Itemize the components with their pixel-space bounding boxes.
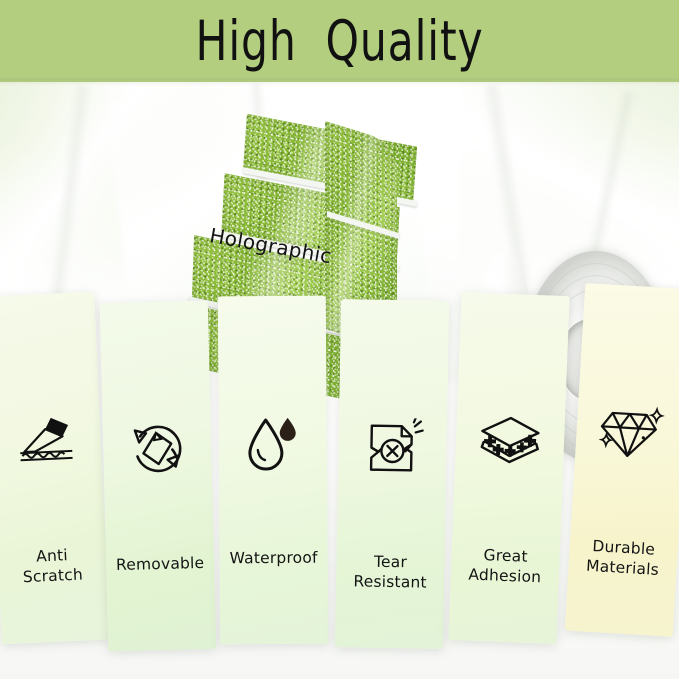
feature-label-line1: Tear <box>336 551 444 573</box>
water-drop-icon <box>244 414 302 474</box>
feature-label-line2: Adhesion <box>450 564 559 589</box>
layers-adhesion-icon <box>475 411 545 470</box>
feature-card-label: Durable Materials <box>568 535 678 582</box>
recycle-label-icon <box>126 419 189 478</box>
icon-container <box>455 410 565 470</box>
feature-card-tear-resistant[interactable]: Tear Resistant <box>335 299 449 649</box>
banner-drop-shadow <box>0 78 679 86</box>
feature-label-line2: Scratch <box>0 564 107 589</box>
product-feature-banner: High Quality <box>0 0 679 679</box>
feature-card-label: Waterproof <box>220 548 328 569</box>
icon-container <box>103 419 212 480</box>
feature-label-line1: Removable <box>106 553 214 576</box>
feature-cards-row: Anti Scratch Removable <box>0 282 679 647</box>
feature-card-label: Tear Resistant <box>336 551 445 594</box>
torn-paper-icon <box>361 417 424 478</box>
feature-card-anti-scratch[interactable]: Anti Scratch <box>0 292 110 645</box>
header-banner: High Quality <box>0 0 679 82</box>
feature-label-line1: Waterproof <box>220 548 328 569</box>
feature-card-label: Removable <box>106 553 214 576</box>
diamond-sparkle-icon <box>596 402 665 464</box>
feature-card-great-adhesion[interactable]: Great Adhesion <box>448 292 569 644</box>
icon-container <box>0 410 102 469</box>
feature-card-removable[interactable]: Removable <box>100 301 216 652</box>
feature-card-waterproof[interactable]: Waterproof <box>218 296 328 645</box>
knife-scratch-icon <box>14 411 78 468</box>
icon-container <box>219 414 327 475</box>
feature-card-label: Great Adhesion <box>450 544 559 589</box>
feature-card-label: Anti Scratch <box>0 543 107 589</box>
icon-container <box>575 401 679 465</box>
page-title: High Quality <box>195 14 483 69</box>
feature-label-line2: Resistant <box>336 571 444 593</box>
feature-card-durable-materials[interactable]: Durable Materials <box>565 283 679 637</box>
icon-container <box>338 417 447 479</box>
